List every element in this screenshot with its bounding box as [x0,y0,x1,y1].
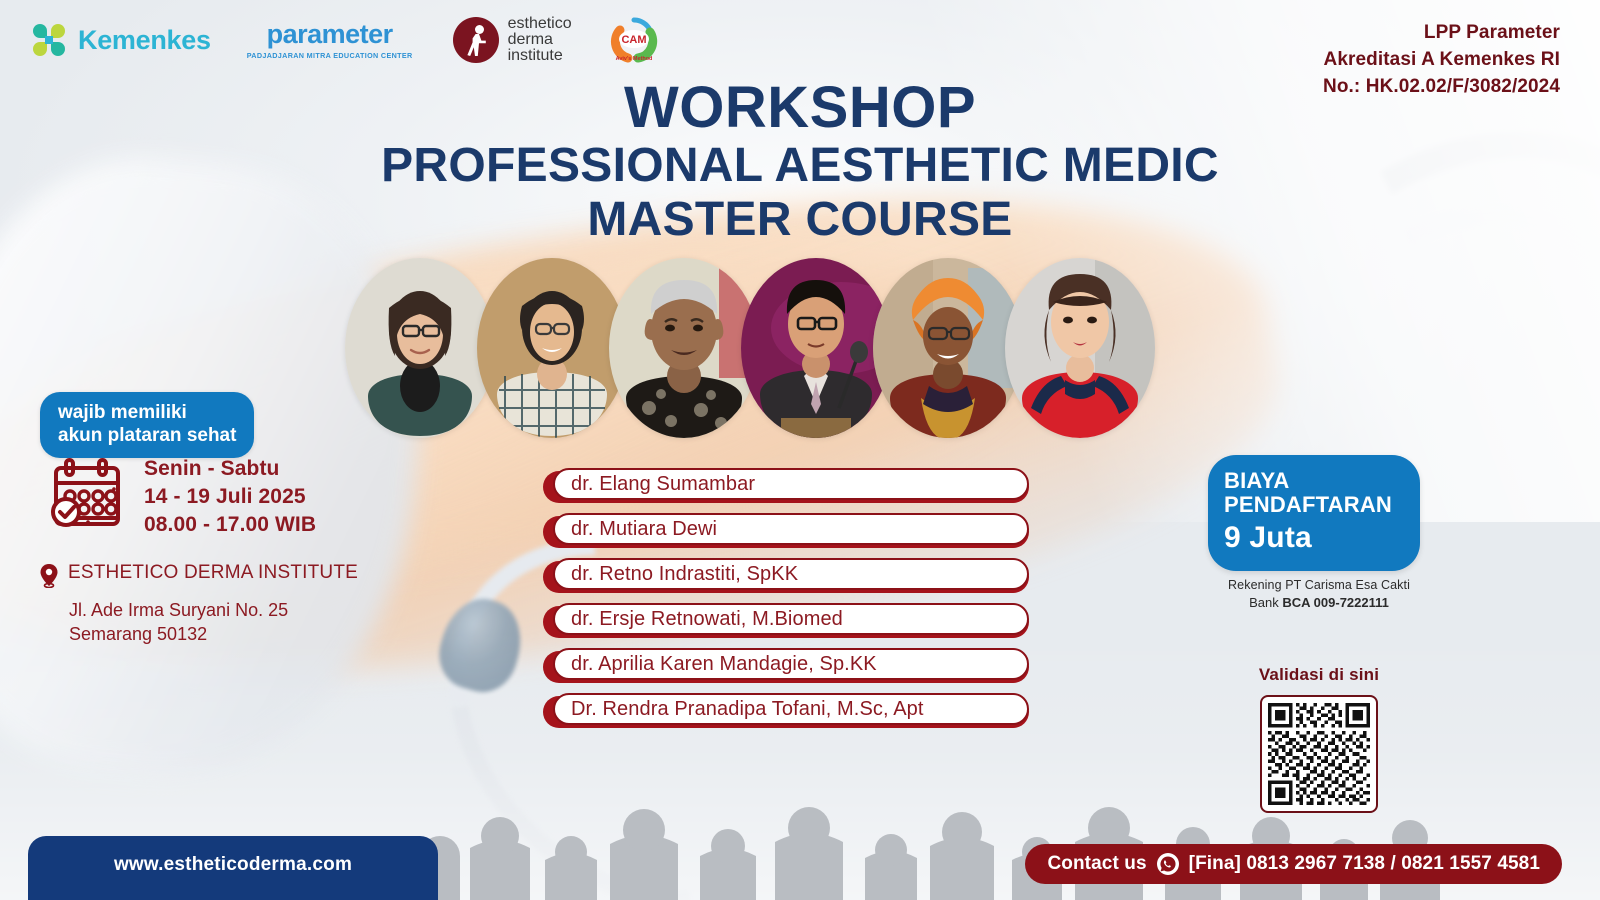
kemenkes-flower-icon [28,19,70,61]
fee-label-line-2: PENDAFTARAN [1224,493,1404,517]
partner-logos: Kemenkes parameter PADJADJARAN MITRA EDU… [28,14,660,66]
fee-label-line-1: BIAYA [1224,469,1404,493]
speaker-pill: dr. Mutiara Dewi [543,513,1029,547]
esthetico-figure-icon [453,17,499,63]
svg-text:Aviv's Method: Aviv's Method [615,56,652,62]
accreditation-line-1: LPP Parameter [1323,20,1560,47]
qr-title: Validasi di sini [1203,665,1435,685]
website-bar[interactable]: www.estheticoderma.com [28,836,438,900]
speaker-portrait-3 [609,258,759,438]
logo-kemenkes: Kemenkes [28,19,211,61]
venue-address-line-2: Semarang 50132 [69,622,358,646]
title-line-3: MASTER COURSE [0,193,1600,247]
venue-name: ESTHETICO DERMA INSTITUTE [68,562,358,584]
qr-code[interactable] [1260,695,1378,813]
plataran-sehat-badge: wajib memiliki akun plataran sehat [40,392,254,458]
schedule-days: Senin - Sabtu [144,455,316,483]
bank-account-holder: Rekening PT Carisma Esa Cakti [1203,578,1435,592]
registration-fee-box: BIAYA PENDAFTARAN 9 Juta [1208,455,1420,571]
speaker-name: dr. Mutiara Dewi [553,513,1029,545]
esthetico-line-1: esthetico [508,16,572,32]
poster-title: WORKSHOP PROFESSIONAL AESTHETIC MEDIC MA… [0,78,1600,246]
esthetico-line-2: derma [508,32,572,48]
speaker-portrait-4 [741,258,891,438]
speaker-name: Dr. Rendra Pranadipa Tofani, M.Sc, Apt [553,693,1029,725]
speaker-name: dr. Ersje Retnowati, M.Biomed [553,603,1029,635]
plataran-badge-line-2: akun plataran sehat [58,424,236,447]
schedule-text: Senin - Sabtu 14 - 19 Juli 2025 08.00 - … [144,455,316,539]
title-line-1: WORKSHOP [0,78,1600,139]
contact-bar[interactable]: Contact us [Fina] 0813 2967 7138 / 0821 … [1025,844,1562,884]
logo-cam: CAM Aviv's Method [608,14,660,66]
plataran-badge-line-1: wajib memiliki [58,401,236,424]
calendar-check-icon [44,456,128,538]
contact-phone-numbers: [Fina] 0813 2967 7138 / 0821 1557 4581 [1189,853,1540,875]
validation-qr-block: Validasi di sini [1203,665,1435,813]
speaker-name: dr. Aprilia Karen Mandagie, Sp.KK [553,648,1029,680]
speaker-pill: dr. Elang Sumambar [543,468,1029,502]
bank-prefix: Bank [1249,595,1282,610]
whatsapp-icon [1157,853,1179,875]
esthetico-wordmark: esthetico derma institute [508,16,572,65]
logo-esthetico-derma-institute: esthetico derma institute [453,16,572,65]
bank-account-number: BCA 009-7222111 [1282,595,1389,610]
speaker-pill: dr. Aprilia Karen Mandagie, Sp.KK [543,648,1029,682]
fee-amount: 9 Juta [1224,521,1404,555]
venue-block: ESTHETICO DERMA INSTITUTE Jl. Ade Irma S… [40,562,358,647]
esthetico-line-3: institute [508,48,572,64]
bank-account-block: Rekening PT Carisma Esa Cakti Bank BCA 0… [1203,578,1435,610]
speaker-pill: dr. Retno Indrastiti, SpKK [543,558,1029,592]
speaker-portrait-5 [873,258,1023,438]
venue-address-line-1: Jl. Ade Irma Suryani No. 25 [69,598,358,622]
speaker-pill: Dr. Rendra Pranadipa Tofani, M.Sc, Apt [543,693,1029,727]
venue-address: Jl. Ade Irma Suryani No. 25 Semarang 501… [69,598,358,647]
location-pin-icon [40,564,58,588]
bank-account-number-row: Bank BCA 009-7222111 [1203,595,1435,610]
logo-parameter: parameter PADJADJARAN MITRA EDUCATION CE… [247,21,413,60]
speaker-name: dr. Elang Sumambar [553,468,1029,500]
contact-label: Contact us [1047,853,1146,875]
speaker-portrait-6 [1005,258,1155,438]
speaker-portrait-1 [345,258,495,438]
website-url: www.estheticoderma.com [114,854,352,876]
parameter-wordmark: parameter [247,21,413,48]
title-line-2: PROFESSIONAL AESTHETIC MEDIC [0,139,1600,193]
speaker-portrait-2 [477,258,627,438]
schedule-block: Senin - Sabtu 14 - 19 Juli 2025 08.00 - … [44,455,316,539]
speaker-name-list: dr. Elang Sumambar dr. Mutiara Dewi dr. … [543,468,1029,738]
accreditation-line-2: Akreditasi A Kemenkes RI [1323,47,1560,74]
parameter-tagline: PADJADJARAN MITRA EDUCATION CENTER [247,51,413,60]
kemenkes-wordmark: Kemenkes [78,25,211,56]
speaker-portrait-row [345,258,1155,438]
svg-text:CAM: CAM [621,34,646,46]
poster-canvas: Kemenkes parameter PADJADJARAN MITRA EDU… [0,0,1600,900]
cam-ribbon-icon: CAM Aviv's Method [608,14,660,66]
schedule-hours: 08.00 - 17.00 WIB [144,511,316,539]
speaker-name: dr. Retno Indrastiti, SpKK [553,558,1029,590]
speaker-pill: dr. Ersje Retnowati, M.Biomed [543,603,1029,637]
schedule-dates: 14 - 19 Juli 2025 [144,483,316,511]
